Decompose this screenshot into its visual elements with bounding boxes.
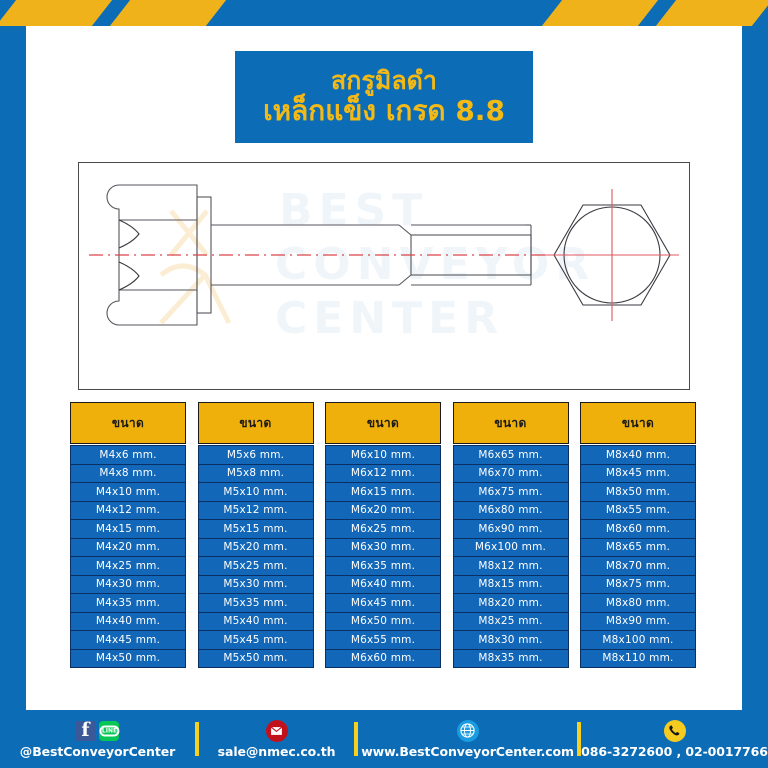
- column-header-1: ขนาด: [70, 402, 186, 444]
- list-item[interactable]: M5x15 mm.: [198, 519, 314, 539]
- list-item[interactable]: M5x35 mm.: [198, 593, 314, 613]
- list-item[interactable]: M6x10 mm.: [325, 445, 441, 465]
- svg-text:BEST: BEST: [279, 185, 428, 236]
- list-item[interactable]: M4x40 mm.: [70, 612, 186, 632]
- list-item[interactable]: M5x30 mm.: [198, 575, 314, 595]
- list-item[interactable]: M8x90 mm.: [580, 612, 696, 632]
- column-body-4: M6x65 mm. M6x70 mm. M6x75 mm. M6x80 mm. …: [453, 444, 569, 668]
- column-header-4: ขนาด: [453, 402, 569, 444]
- chevron-stripe-1: [0, 0, 112, 26]
- list-item[interactable]: M8x25 mm.: [453, 612, 569, 632]
- list-item[interactable]: M6x35 mm.: [325, 556, 441, 576]
- size-tables: ขนาด M4x6 mm. M4x8 mm. M4x10 mm. M4x12 m…: [70, 402, 696, 687]
- list-item[interactable]: M4x25 mm.: [70, 556, 186, 576]
- list-item[interactable]: M4x15 mm.: [70, 519, 186, 539]
- footer-email-group[interactable]: sale@nmec.co.th: [199, 720, 354, 759]
- list-item[interactable]: M5x20 mm.: [198, 538, 314, 558]
- list-item[interactable]: M8x110 mm.: [580, 649, 696, 669]
- chevron-stripe-3: [542, 0, 658, 26]
- phone-icon-wrap: [664, 720, 686, 742]
- list-item[interactable]: M4x50 mm.: [70, 649, 186, 669]
- website-url[interactable]: www.BestConveyorCenter.com: [361, 744, 574, 759]
- list-item[interactable]: M8x20 mm.: [453, 593, 569, 613]
- list-item[interactable]: M4x8 mm.: [70, 464, 186, 484]
- chevron-stripe-4: [656, 0, 768, 26]
- list-item[interactable]: M8x55 mm.: [580, 501, 696, 521]
- list-item[interactable]: M8x80 mm.: [580, 593, 696, 613]
- list-item[interactable]: M6x90 mm.: [453, 519, 569, 539]
- phone-numbers[interactable]: 086-3272600 , 02-0017766: [581, 744, 768, 759]
- list-item[interactable]: M6x30 mm.: [325, 538, 441, 558]
- list-item[interactable]: M6x40 mm.: [325, 575, 441, 595]
- list-item[interactable]: M6x45 mm.: [325, 593, 441, 613]
- globe-icon[interactable]: [457, 720, 479, 742]
- logo-watermark: [161, 211, 229, 323]
- title-line-1: สกรูมิลดำ: [331, 67, 437, 95]
- title-banner: สกรูมิลดำ เหล็กแข็ง เกรด 8.8: [235, 51, 533, 143]
- list-item[interactable]: M5x50 mm.: [198, 649, 314, 669]
- email-icon-wrap: [266, 720, 288, 742]
- facebook-handle[interactable]: @BestConveyorCenter: [20, 744, 175, 759]
- footer-contact-bar: @BestConveyorCenter sale@nmec.co.th: [0, 710, 768, 768]
- chevron-stripe-2: [110, 0, 226, 26]
- list-item[interactable]: M8x12 mm.: [453, 556, 569, 576]
- bolt-drawing-frame: BEST CONVEYOR CENTER: [78, 162, 690, 390]
- list-item[interactable]: M6x75 mm.: [453, 482, 569, 502]
- title-line-2: เหล็กแข็ง เกรด 8.8: [263, 95, 505, 126]
- phone-glyph: [668, 724, 681, 737]
- list-item[interactable]: M6x55 mm.: [325, 630, 441, 650]
- email-icon[interactable]: [266, 720, 288, 742]
- social-icons: [75, 720, 119, 742]
- list-item[interactable]: M6x60 mm.: [325, 649, 441, 669]
- list-item[interactable]: M5x12 mm.: [198, 501, 314, 521]
- envelope-glyph: [270, 726, 283, 736]
- size-column-2: ขนาด M5x6 mm. M5x8 mm. M5x10 mm. M5x12 m…: [198, 402, 314, 687]
- list-item[interactable]: M8x70 mm.: [580, 556, 696, 576]
- svg-text:CONVEYOR: CONVEYOR: [275, 239, 595, 290]
- list-item[interactable]: M6x70 mm.: [453, 464, 569, 484]
- size-column-4: ขนาด M6x65 mm. M6x70 mm. M6x75 mm. M6x80…: [453, 402, 569, 687]
- list-item[interactable]: M6x65 mm.: [453, 445, 569, 465]
- column-body-1: M4x6 mm. M4x8 mm. M4x10 mm. M4x12 mm. M4…: [70, 444, 186, 668]
- svg-text:CENTER: CENTER: [275, 293, 504, 344]
- list-item[interactable]: M8x50 mm.: [580, 482, 696, 502]
- bolt-drawing-svg: BEST CONVEYOR CENTER: [79, 163, 689, 389]
- column-header-2: ขนาด: [198, 402, 314, 444]
- list-item[interactable]: M6x15 mm.: [325, 482, 441, 502]
- list-item[interactable]: M4x20 mm.: [70, 538, 186, 558]
- globe-glyph: [460, 723, 475, 738]
- list-item[interactable]: M8x65 mm.: [580, 538, 696, 558]
- globe-icon-wrap: [457, 720, 479, 742]
- list-item[interactable]: M5x40 mm.: [198, 612, 314, 632]
- column-body-5: M8x40 mm. M8x45 mm. M8x50 mm. M8x55 mm. …: [580, 444, 696, 668]
- list-item[interactable]: M8x100 mm.: [580, 630, 696, 650]
- list-item[interactable]: M8x15 mm.: [453, 575, 569, 595]
- list-item[interactable]: M8x30 mm.: [453, 630, 569, 650]
- footer-phone-group[interactable]: 086-3272600 , 02-0017766: [581, 720, 768, 759]
- list-item[interactable]: M5x10 mm.: [198, 482, 314, 502]
- email-address[interactable]: sale@nmec.co.th: [218, 744, 336, 759]
- list-item[interactable]: M8x40 mm.: [580, 445, 696, 465]
- list-item[interactable]: M4x45 mm.: [70, 630, 186, 650]
- footer-social-group[interactable]: @BestConveyorCenter: [0, 720, 195, 759]
- list-item[interactable]: M4x6 mm.: [70, 445, 186, 465]
- watermark-group: BEST CONVEYOR CENTER: [275, 185, 595, 344]
- list-item[interactable]: M5x45 mm.: [198, 630, 314, 650]
- footer-website-group[interactable]: www.BestConveyorCenter.com: [358, 720, 577, 759]
- list-item[interactable]: M4x30 mm.: [70, 575, 186, 595]
- facebook-icon[interactable]: [75, 721, 95, 741]
- poster-root: สกรูมิลดำ เหล็กแข็ง เกรด 8.8 BEST CONVEY…: [0, 0, 768, 768]
- size-column-1: ขนาด M4x6 mm. M4x8 mm. M4x10 mm. M4x12 m…: [70, 402, 186, 687]
- list-item[interactable]: M4x12 mm.: [70, 501, 186, 521]
- list-item[interactable]: M8x35 mm.: [453, 649, 569, 669]
- list-item[interactable]: M6x80 mm.: [453, 501, 569, 521]
- list-item[interactable]: M6x50 mm.: [325, 612, 441, 632]
- list-item[interactable]: M5x6 mm.: [198, 445, 314, 465]
- list-item[interactable]: M5x8 mm.: [198, 464, 314, 484]
- line-icon[interactable]: [99, 721, 119, 741]
- column-header-5: ขนาด: [580, 402, 696, 444]
- column-body-2: M5x6 mm. M5x8 mm. M5x10 mm. M5x12 mm. M5…: [198, 444, 314, 668]
- list-item[interactable]: M8x75 mm.: [580, 575, 696, 595]
- phone-icon[interactable]: [664, 720, 686, 742]
- list-item[interactable]: M5x25 mm.: [198, 556, 314, 576]
- list-item[interactable]: M6x25 mm.: [325, 519, 441, 539]
- list-item[interactable]: M6x100 mm.: [453, 538, 569, 558]
- column-body-3: M6x10 mm. M6x12 mm. M6x15 mm. M6x20 mm. …: [325, 444, 441, 668]
- list-item[interactable]: M4x10 mm.: [70, 482, 186, 502]
- list-item[interactable]: M6x20 mm.: [325, 501, 441, 521]
- bolt-end-view: [545, 189, 679, 321]
- list-item[interactable]: M8x45 mm.: [580, 464, 696, 484]
- size-column-3: ขนาด M6x10 mm. M6x12 mm. M6x15 mm. M6x20…: [325, 402, 441, 687]
- list-item[interactable]: M6x12 mm.: [325, 464, 441, 484]
- column-header-3: ขนาด: [325, 402, 441, 444]
- size-column-5: ขนาด M8x40 mm. M8x45 mm. M8x50 mm. M8x55…: [580, 402, 696, 687]
- list-item[interactable]: M8x60 mm.: [580, 519, 696, 539]
- list-item[interactable]: M4x35 mm.: [70, 593, 186, 613]
